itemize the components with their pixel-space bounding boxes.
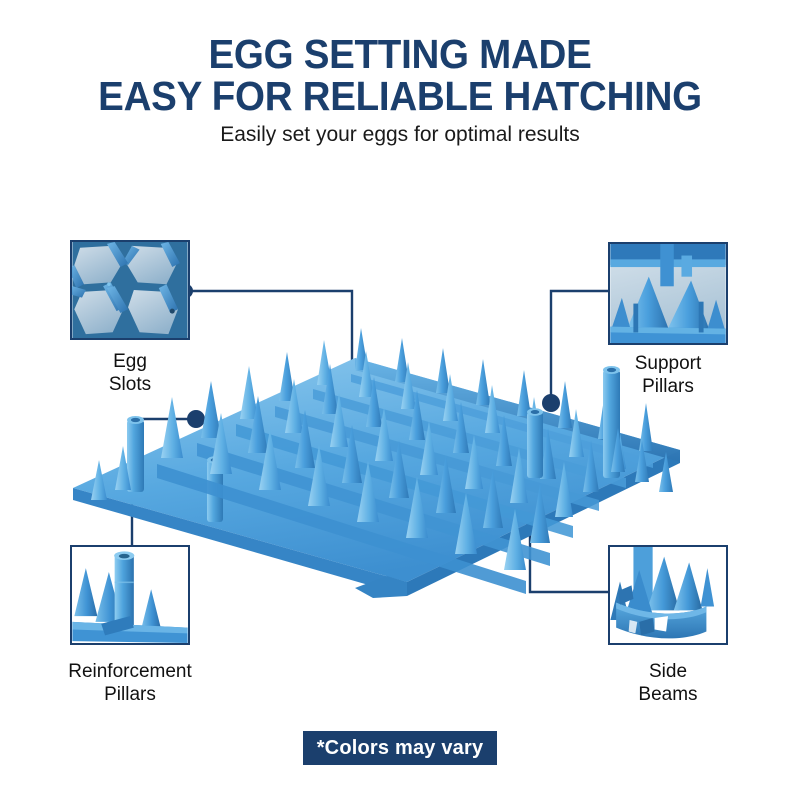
callout-box-reinforcement-pillars[interactable]: [70, 545, 190, 645]
support-peaks-art: [610, 244, 726, 343]
callout-label-reinforcement-pillars: Reinforcement Pillars: [10, 660, 250, 706]
callout-box-support-pillars[interactable]: [608, 242, 728, 345]
callout-label-side-beams: Side Beams: [548, 660, 788, 706]
colors-may-vary-banner: *Colors may vary: [303, 731, 497, 765]
callout-label-egg-slots: Egg Slots: [10, 350, 250, 396]
colors-may-vary-text: *Colors may vary: [317, 737, 484, 760]
egg-slot-cells-art: [72, 242, 188, 338]
reinforcement-pillar-front-right: [527, 408, 543, 478]
callout-box-side-beams[interactable]: [608, 545, 728, 645]
callout-box-egg-slots[interactable]: [70, 240, 190, 340]
reinforcement-pillar-front-left: [127, 416, 144, 492]
reinforcement-post-art: [72, 547, 188, 643]
infographic-canvas: EGG SETTING MADE EASY FOR RELIABLE HATCH…: [0, 0, 800, 800]
side-beam-edge-art: [610, 547, 726, 643]
callout-label-support-pillars: Support Pillars: [548, 352, 788, 398]
